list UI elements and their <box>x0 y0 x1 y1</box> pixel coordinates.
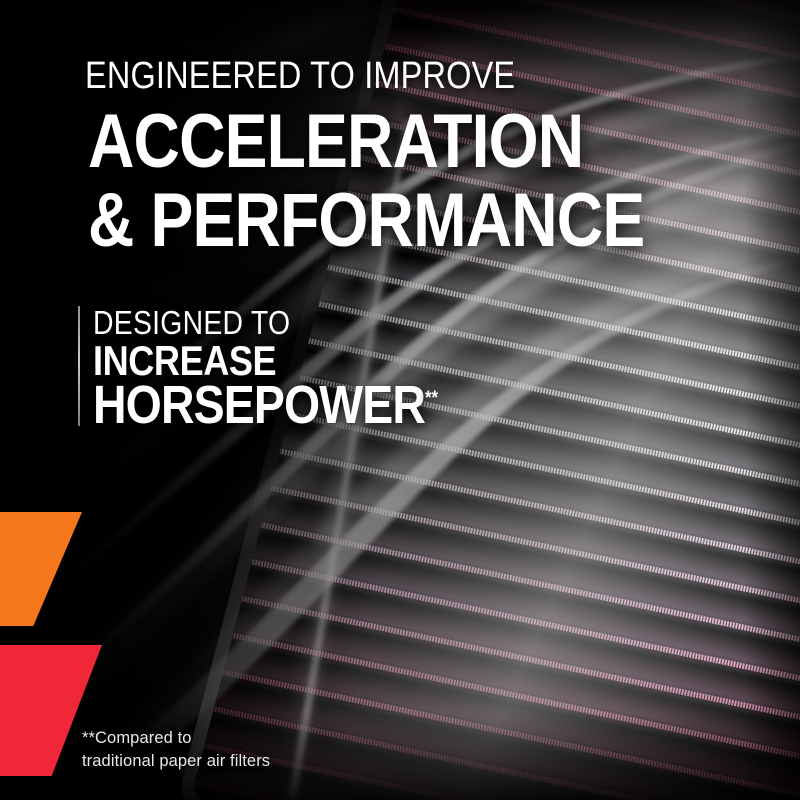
subhead-line-2: HORSEPOWER** <box>93 378 438 432</box>
subhead-divider-rule <box>78 306 80 426</box>
subhead-line-2-text: HORSEPOWER <box>93 375 425 435</box>
ad-creative-canvas: ENGINEERED TO IMPROVE ACCELERATION & PER… <box>0 0 800 800</box>
headline-line-1: ACCELERATION <box>88 104 583 180</box>
footnote-marker: ** <box>425 387 438 409</box>
disclaimer-footnote: **Compared to traditional paper air filt… <box>82 727 270 774</box>
headline-line-2: & PERFORMANCE <box>88 183 644 259</box>
headline-eyebrow: ENGINEERED TO IMPROVE <box>85 57 515 95</box>
subhead-kicker: DESIGNED TO <box>93 306 290 339</box>
marketing-copy: ENGINEERED TO IMPROVE ACCELERATION & PER… <box>0 0 800 800</box>
